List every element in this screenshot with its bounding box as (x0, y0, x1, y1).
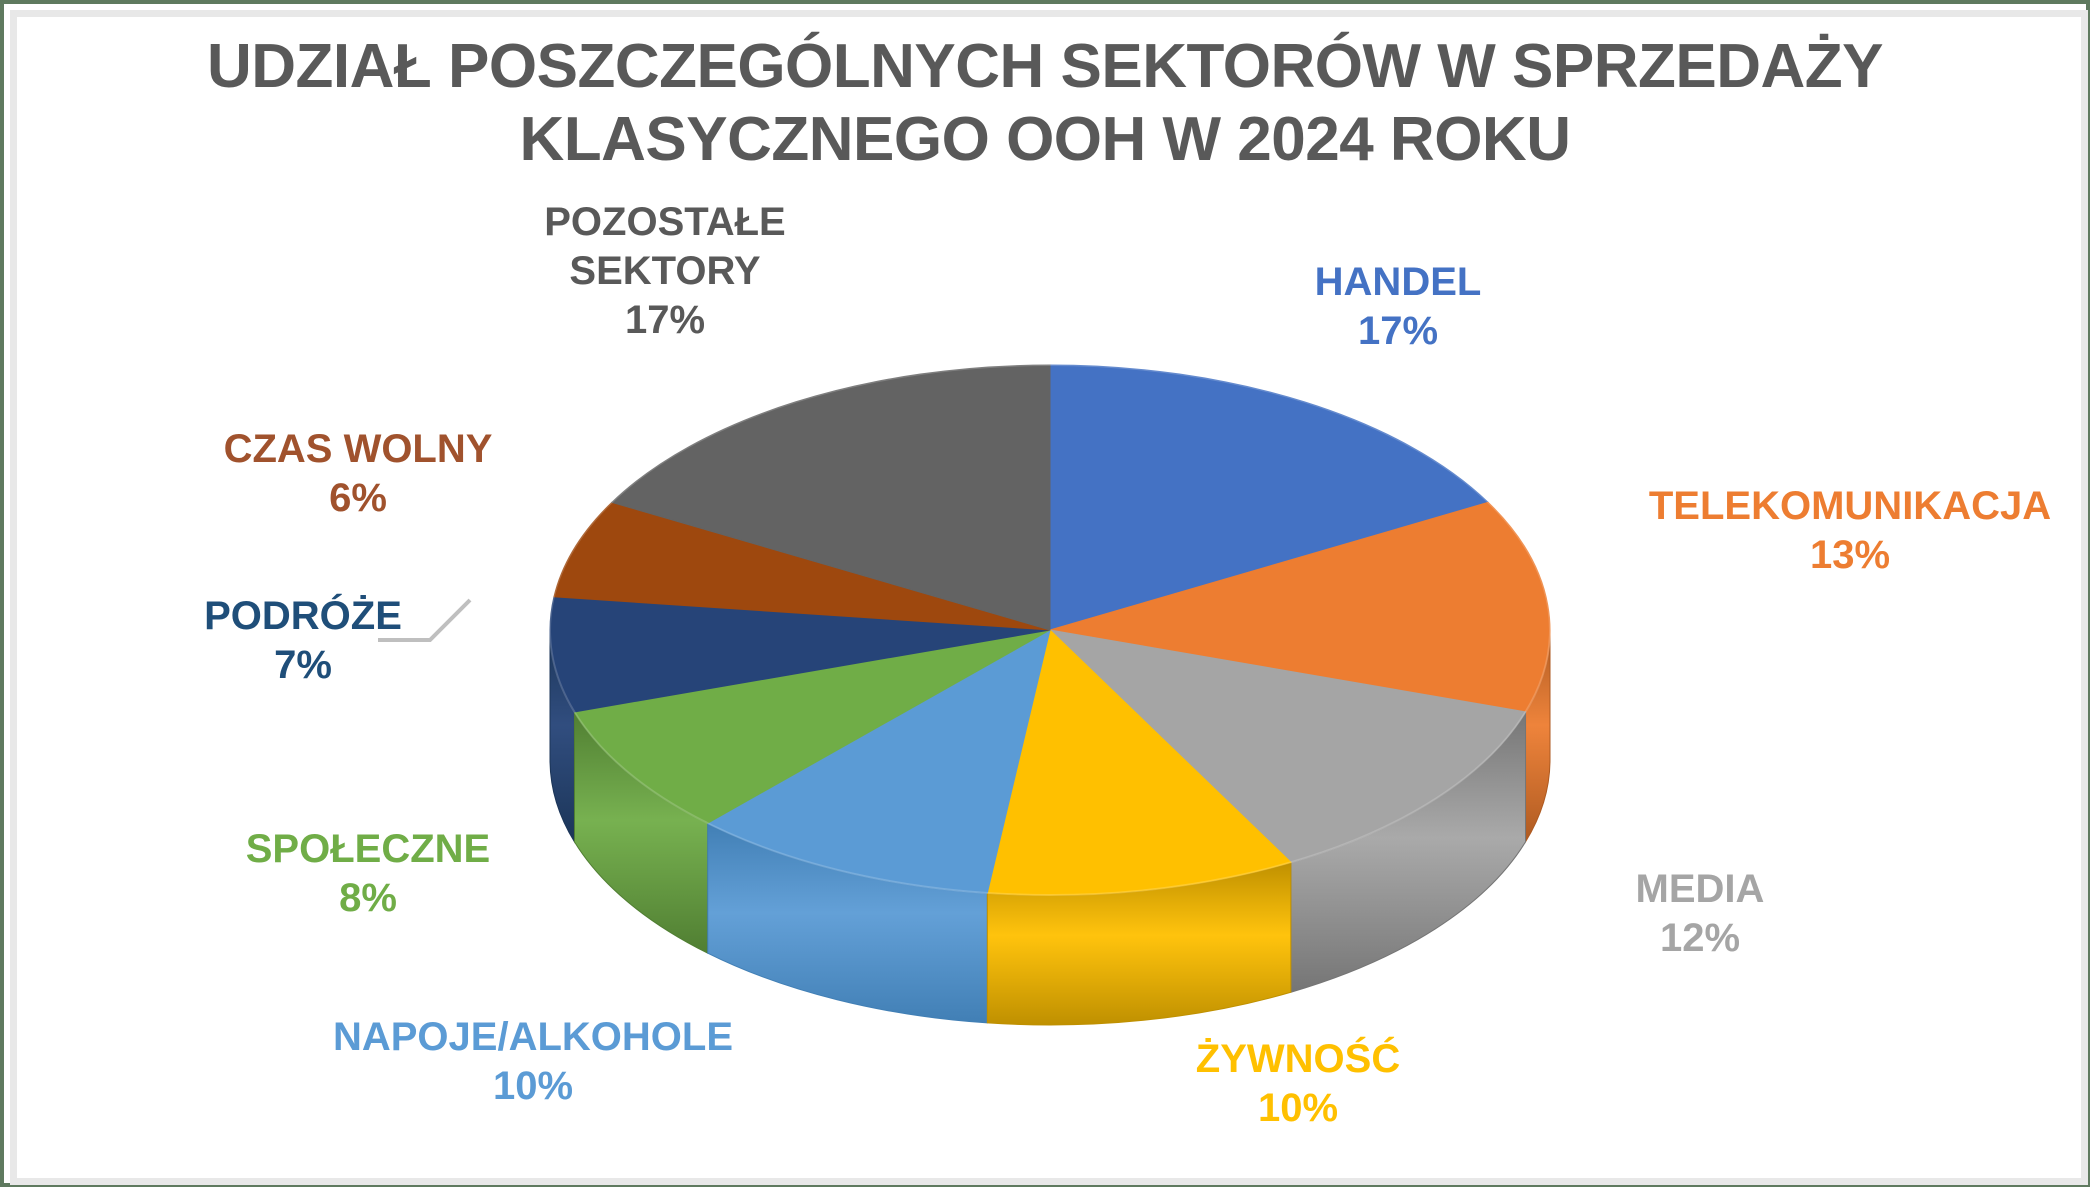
chart-title-line-1: UDZIAŁ POSZCZEGÓLNYCH SEKTORÓW W SPRZEDA… (0, 30, 2090, 103)
data-label-handel-percent: 17% (1218, 307, 1578, 356)
data-label-napoje-alkohole: NAPOJE/ALKOHOLE 10% (318, 1013, 748, 1111)
chart-canvas: UDZIAŁ POSZCZEGÓLNYCH SEKTORÓW W SPRZEDA… (0, 0, 2090, 1187)
data-label-media-percent: 12% (1555, 914, 1845, 963)
chart-title: UDZIAŁ POSZCZEGÓLNYCH SEKTORÓW W SPRZEDA… (0, 30, 2090, 176)
data-label-media-name: MEDIA (1555, 865, 1845, 914)
data-label-czas-wolny: CZAS WOLNY 6% (198, 425, 518, 523)
data-label-pozostale-sektory-percent: 17% (500, 296, 830, 345)
data-label-podroze-name: PODRÓŻE (158, 592, 448, 641)
data-label-handel-name: HANDEL (1218, 258, 1578, 307)
data-label-spoleczne: SPOŁECZNE 8% (228, 825, 508, 923)
pie-top-faces (550, 365, 1550, 895)
data-label-telekomunikacja: TELEKOMUNIKACJA 13% (1610, 482, 2090, 580)
data-label-telekomunikacja-percent: 13% (1610, 531, 2090, 580)
data-label-pozostale-sektory-name: POZOSTAŁE SEKTORY (500, 198, 830, 296)
data-label-telekomunikacja-name: TELEKOMUNIKACJA (1610, 482, 2090, 531)
data-label-zywnosc-percent: 10% (1148, 1084, 1448, 1133)
chart-title-line-2: KLASYCZNEGO OOH W 2024 ROKU (0, 103, 2090, 176)
data-label-zywnosc-name: ŻYWNOŚĆ (1148, 1035, 1448, 1084)
data-label-spoleczne-percent: 8% (228, 874, 508, 923)
data-label-podroze: PODRÓŻE 7% (158, 592, 448, 690)
data-label-handel: HANDEL 17% (1218, 258, 1578, 356)
data-label-czas-wolny-percent: 6% (198, 474, 518, 523)
data-label-spoleczne-name: SPOŁECZNE (228, 825, 508, 874)
data-label-pozostale-sektory: POZOSTAŁE SEKTORY 17% (500, 198, 830, 344)
data-label-napoje-alkohole-percent: 10% (318, 1062, 748, 1111)
data-label-podroze-percent: 7% (158, 641, 448, 690)
data-label-czas-wolny-name: CZAS WOLNY (198, 425, 518, 474)
pie-chart-svg (425, 300, 1675, 1060)
data-label-napoje-alkohole-name: NAPOJE/ALKOHOLE (318, 1013, 748, 1062)
data-label-zywnosc: ŻYWNOŚĆ 10% (1148, 1035, 1448, 1133)
data-label-media: MEDIA 12% (1555, 865, 1845, 963)
pie-chart (425, 300, 1675, 1060)
